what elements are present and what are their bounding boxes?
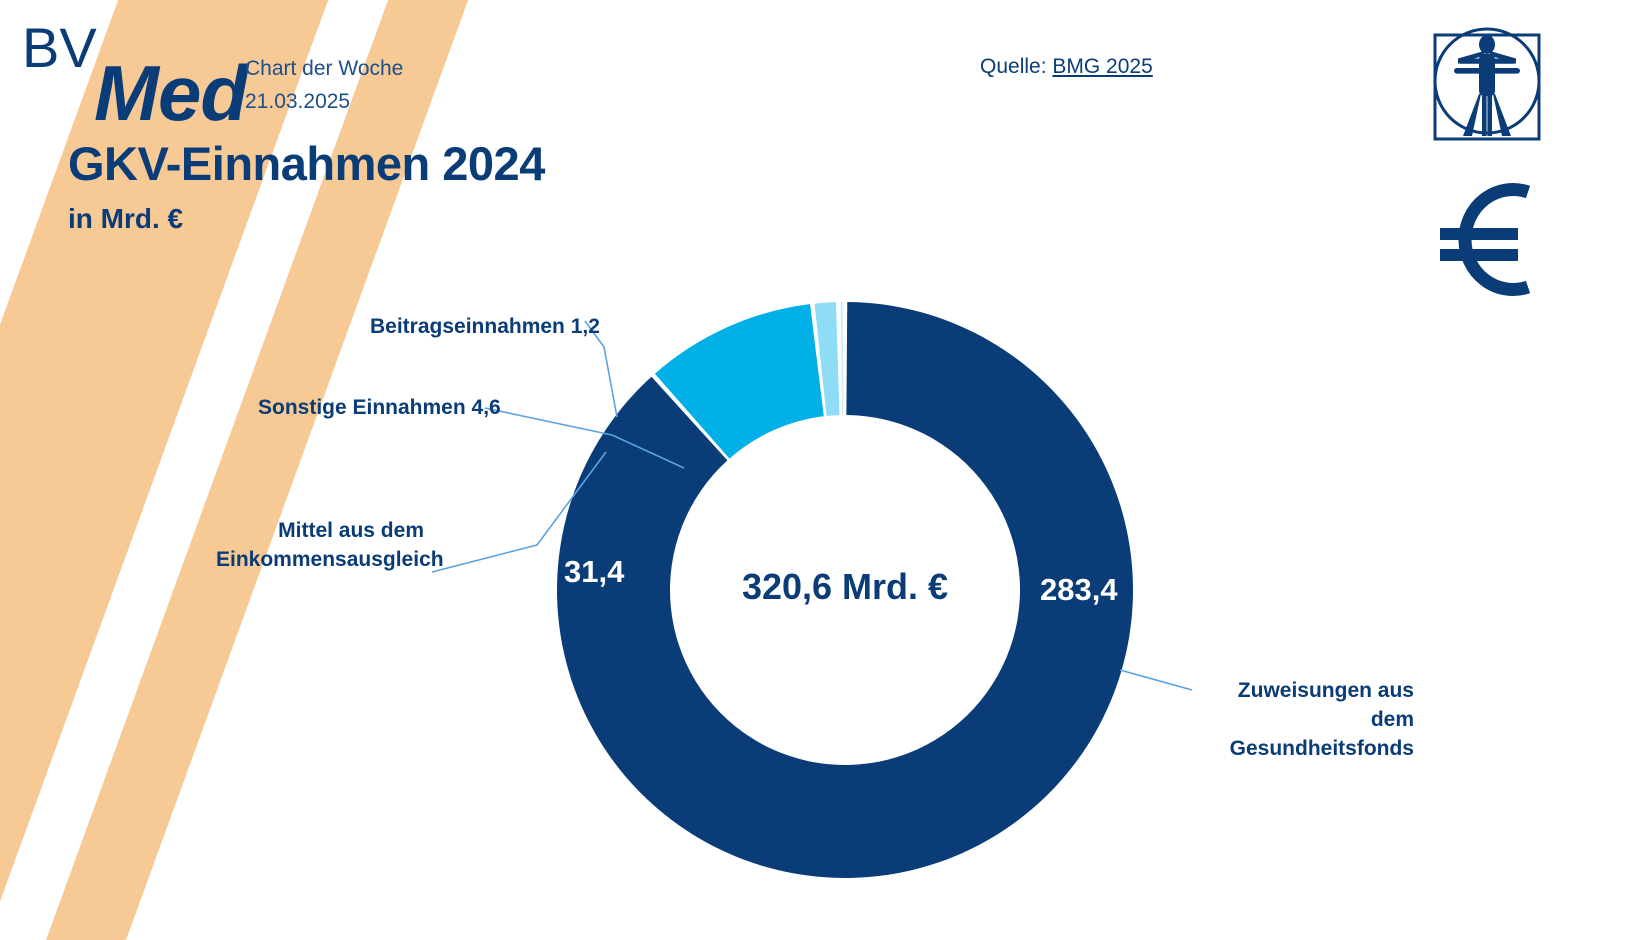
callout-label-zuweisungen-line1: Zuweisungen aus dem xyxy=(1198,676,1414,734)
donut-chart-svg xyxy=(0,0,1640,940)
slide-canvas: BV Med Chart der Woche 21.03.2025 Quelle… xyxy=(0,0,1640,940)
callout-label-mittel-line1: Mittel aus dem xyxy=(216,516,424,545)
donut-chart: Beitragseinnahmen 1,2 Sonstige Einnahmen… xyxy=(0,0,1640,940)
donut-center-total: 320,6 Mrd. € xyxy=(645,566,1045,608)
leader-line-zuweisungen xyxy=(1120,670,1192,690)
callout-label-mittel-einkommensausgleich: Mittel aus dem Einkommensausgleich xyxy=(216,516,424,574)
slice-value-zuweisungen: 283,4 xyxy=(1040,572,1118,608)
callout-label-sonstige-einnahmen: Sonstige Einnahmen 4,6 xyxy=(258,393,501,422)
callout-label-beitragseinnahmen: Beitragseinnahmen 1,2 xyxy=(370,312,600,341)
callout-label-zuweisungen-line2: Gesundheitsfonds xyxy=(1198,734,1414,763)
callout-label-zuweisungen-gesundheitsfonds: Zuweisungen aus dem Gesundheitsfonds xyxy=(1198,676,1414,763)
callout-label-mittel-line2: Einkommensausgleich xyxy=(216,545,424,574)
slice-value-mittel: 31,4 xyxy=(564,554,624,590)
donut-slice-beitragseinnahmen[interactable] xyxy=(840,302,843,415)
